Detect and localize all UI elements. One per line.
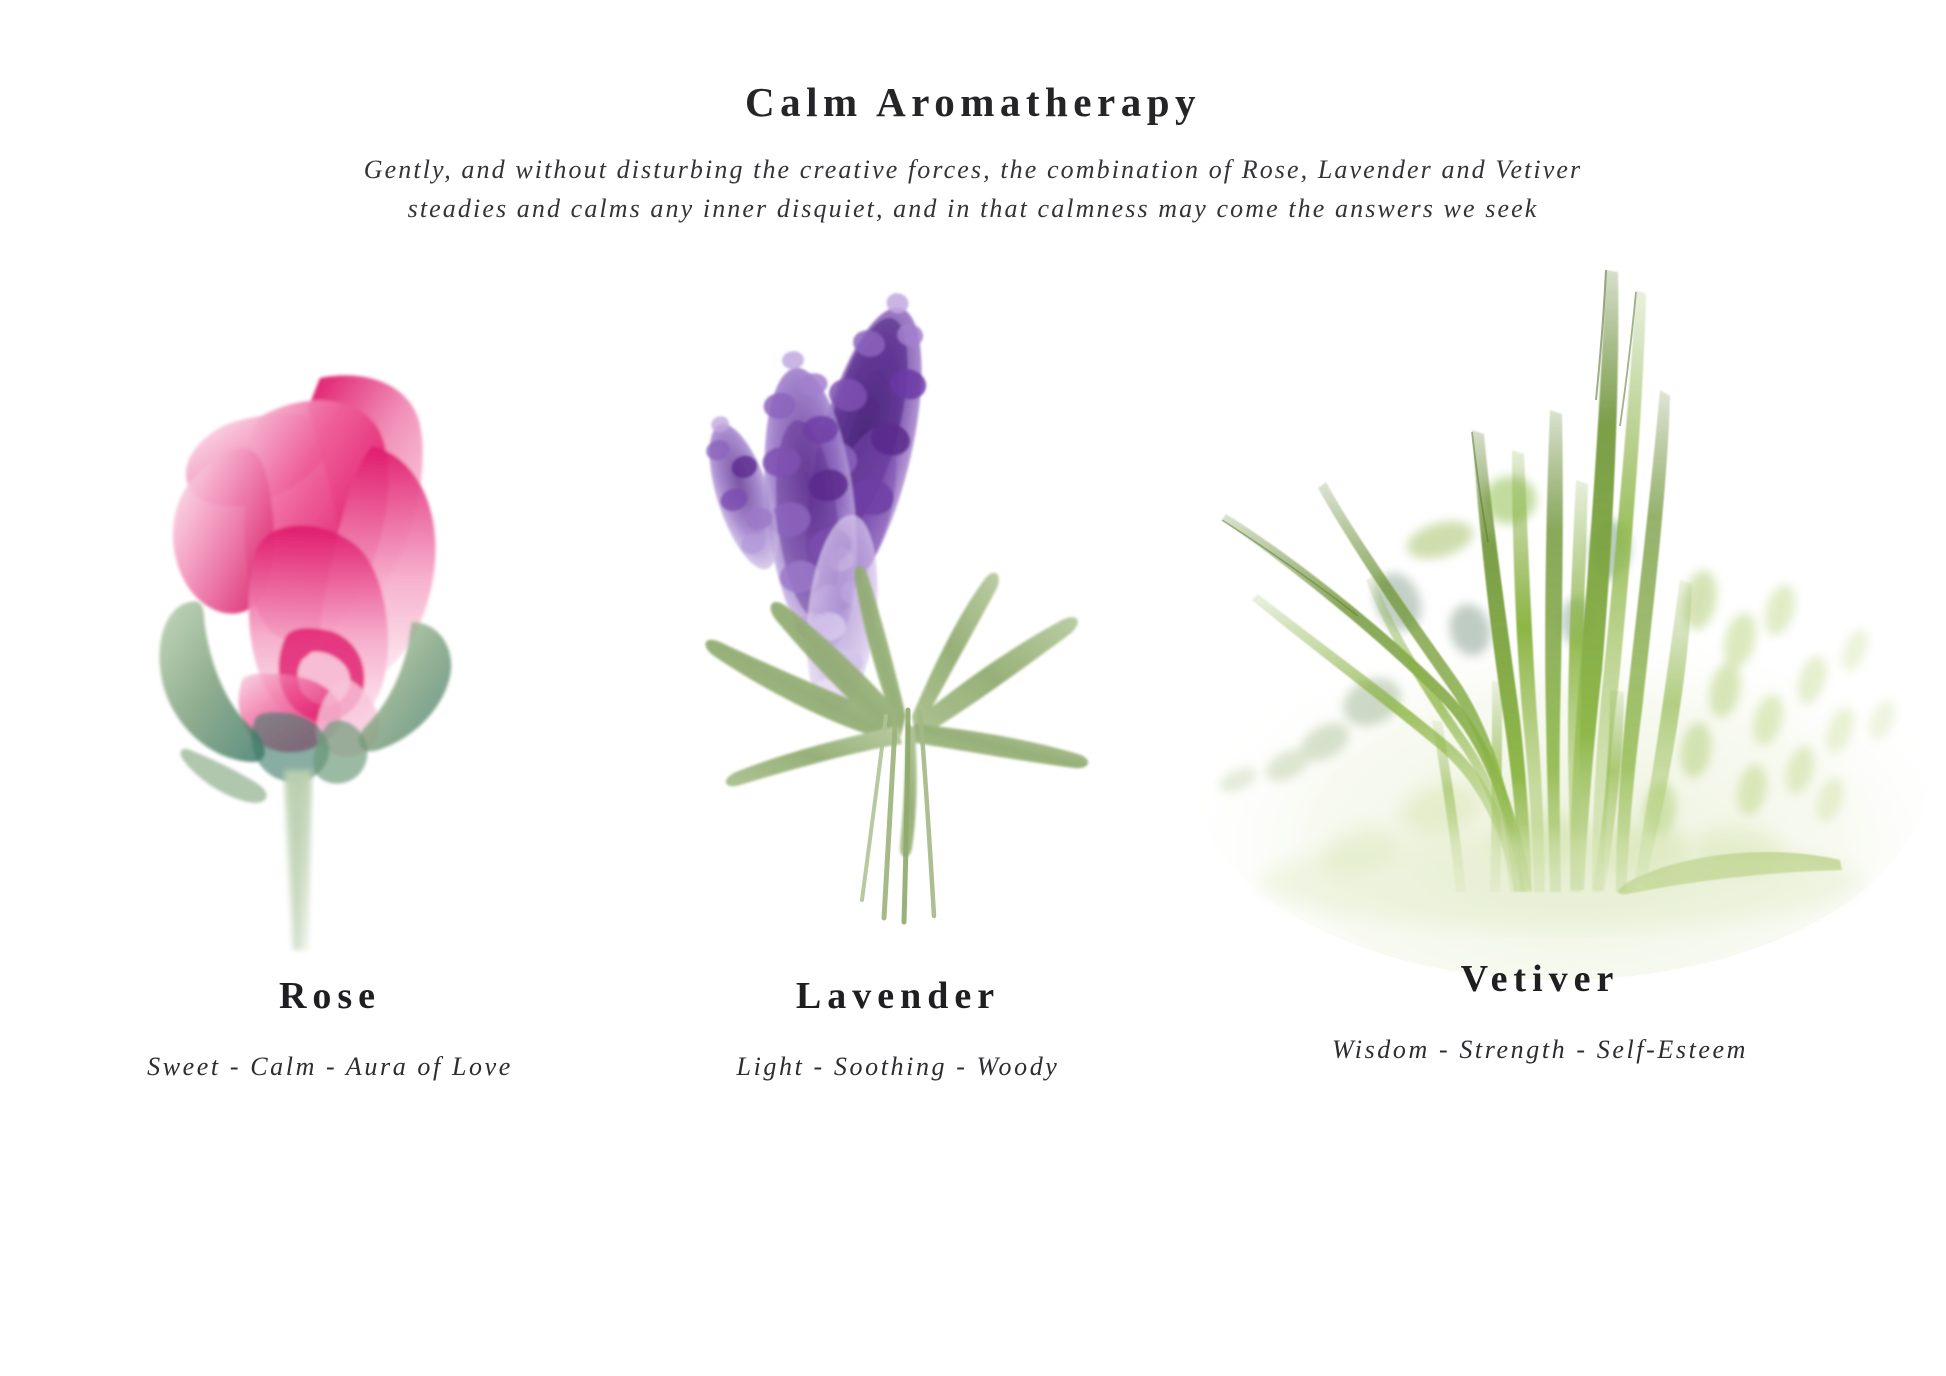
- caption-lavender: Lavender Light - Soothing - Woody: [588, 975, 1208, 1082]
- botanical-card-vetiver: [1140, 250, 1940, 970]
- rose-illustration: [20, 250, 640, 970]
- botanical-card-lavender: [600, 250, 1220, 970]
- subtitle-line-1: Gently, and without disturbing the creat…: [0, 150, 1946, 189]
- page-subtitle: Gently, and without disturbing the creat…: [0, 150, 1946, 228]
- caption-vetiver: Vetiver Wisdom - Strength - Self-Esteem: [1140, 958, 1940, 1065]
- aromatherapy-poster: Calm Aromatherapy Gently, and without di…: [0, 0, 1946, 1376]
- botanical-columns: [0, 250, 1946, 970]
- page-title: Calm Aromatherapy: [0, 78, 1946, 126]
- caption-rose: Rose Sweet - Calm - Aura of Love: [20, 975, 640, 1082]
- vetiver-illustration: [1140, 250, 1940, 970]
- botanical-card-rose: [20, 250, 640, 970]
- botanical-descriptor-vetiver: Wisdom - Strength - Self-Esteem: [1140, 1035, 1940, 1065]
- botanical-descriptor-rose: Sweet - Calm - Aura of Love: [20, 1052, 640, 1082]
- botanical-name-rose: Rose: [20, 975, 640, 1019]
- lavender-illustration: [600, 250, 1220, 970]
- botanical-name-lavender: Lavender: [588, 975, 1208, 1019]
- subtitle-line-2: steadies and calms any inner disquiet, a…: [0, 189, 1946, 228]
- botanical-descriptor-lavender: Light - Soothing - Woody: [588, 1052, 1208, 1082]
- botanical-name-vetiver: Vetiver: [1140, 958, 1940, 1002]
